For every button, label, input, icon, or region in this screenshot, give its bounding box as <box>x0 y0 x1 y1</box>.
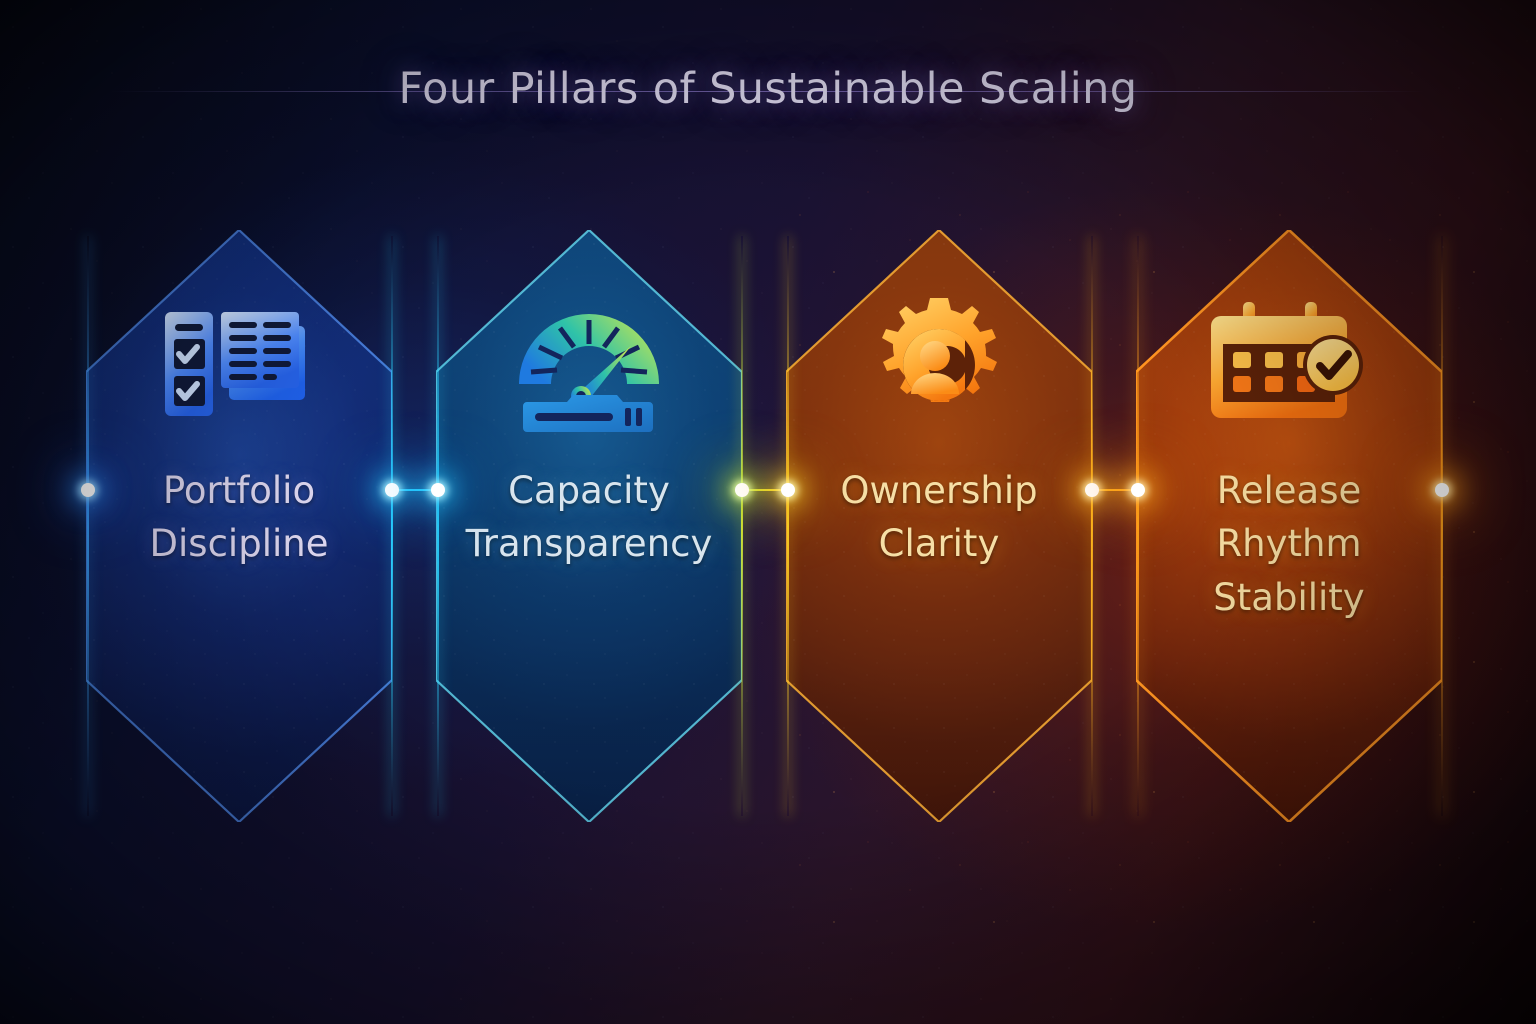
pillar-card-capacity-transparency[interactable]: Capacity Transparency <box>436 230 742 822</box>
gauge-meter-icon <box>505 290 673 440</box>
pillar-card-portfolio-discipline[interactable]: Portfolio Discipline <box>86 230 392 822</box>
pillar-row: Portfolio Discipline <box>0 0 1536 1024</box>
pillar-card-ownership-clarity[interactable]: Ownership Clarity <box>786 230 1092 822</box>
checklist-documents-icon <box>155 290 323 440</box>
gear-person-icon <box>855 290 1023 440</box>
calendar-check-icon <box>1205 290 1373 440</box>
infographic-canvas: Four Pillars of Sustainable Scaling <box>0 0 1536 1024</box>
pillar-label: Ownership Clarity <box>796 464 1082 571</box>
pillar-label: Portfolio Discipline <box>96 464 382 571</box>
pillar-label: Release Rhythm Stability <box>1146 464 1432 624</box>
pillar-card-release-rhythm-stability[interactable]: Release Rhythm Stability <box>1136 230 1442 822</box>
pillar-label: Capacity Transparency <box>446 464 732 571</box>
